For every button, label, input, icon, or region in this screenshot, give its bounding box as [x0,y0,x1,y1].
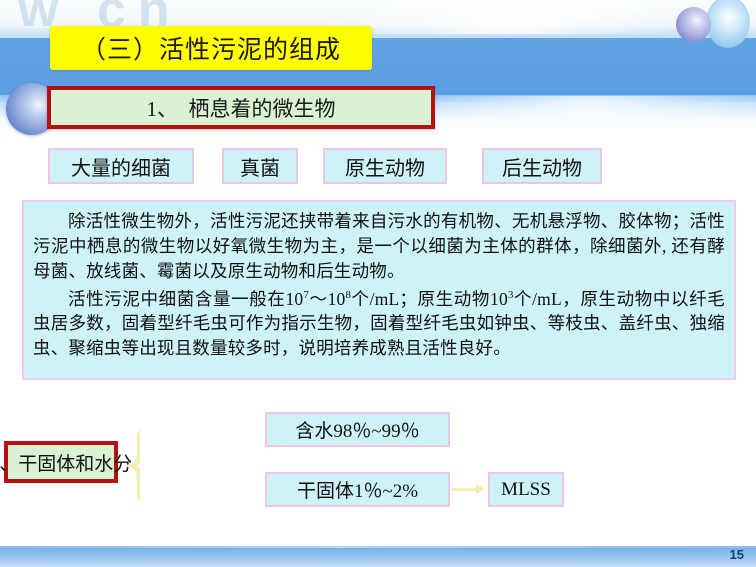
mlss-text: MLSS [501,479,551,501]
category-box-fungi: 真菌 [222,148,298,184]
para2-part-pre: 活性污泥中细菌含量一般在10 [68,289,303,309]
decorative-sphere-small-right [676,7,711,42]
section-2-heading-text: 2、干固体和水分 [0,449,132,476]
category-box-metazoa: 后生动物 [482,148,602,184]
section-1-heading-box: 1、 栖息着的微生物 [47,86,435,129]
category-box-protozoa: 原生动物 [323,148,447,184]
mlss-box: MLSS [488,472,564,507]
dry-solid-box: 干固体1％~2% [265,472,450,507]
category-label: 原生动物 [345,152,425,181]
body-text-box: 除活性微生物外，活性污泥还挟带着来自污水的有机物、无机悬浮物、胶体物；活性污泥中… [22,200,736,380]
category-label: 真菌 [240,152,280,181]
dry-solid-text: 干固体1％~2% [297,476,418,503]
background-swoosh-lower [420,96,756,118]
slide-canvas: w cn （三）活性污泥的组成 1、 栖息着的微生物 大量的细菌 真菌 原生动物… [0,0,756,567]
category-row: 大量的细菌 真菌 原生动物 后生动物 [0,148,756,184]
body-paragraph-1: 除活性微生物外，活性污泥还挟带着来自污水的有机物、无机悬浮物、胶体物；活性污泥中… [33,209,725,284]
brace-glyph: { [118,413,140,511]
body-paragraph-2: 活性污泥中细菌含量一般在107～108个/mL；原生动物103个/mL，原生动物… [33,287,725,362]
para2-part-mid2: 个/mL；原生动物10 [351,289,508,309]
watermark-text: w cn [18,0,518,26]
category-box-bacteria: 大量的细菌 [48,148,194,184]
water-content-text: 含水98％~99％ [295,416,419,443]
section-1-heading-text: 1、 栖息着的微生物 [147,93,336,123]
arrow-shaft [452,488,477,491]
footer-bar [0,548,756,567]
category-label: 后生动物 [502,152,582,181]
slide-title-box: （三）活性污泥的组成 [50,26,372,70]
water-content-box: 含水98％~99％ [265,412,450,447]
slide-title-text: （三）活性污泥的组成 [81,30,341,66]
page-number: 15 [730,547,744,562]
arrow-head [476,484,485,494]
category-label: 大量的细菌 [71,152,171,181]
arrow-right-icon [452,487,486,492]
section-2-heading-box: 2、干固体和水分 [4,441,118,483]
para2-part-mid1: ～10 [309,289,345,309]
